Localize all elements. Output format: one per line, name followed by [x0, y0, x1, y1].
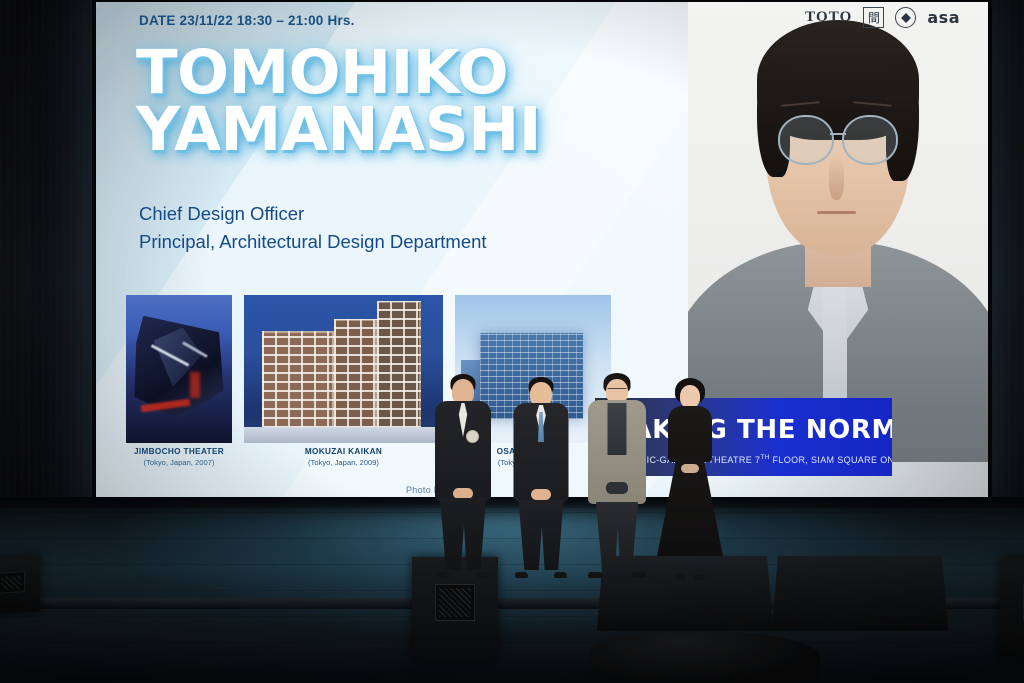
- project-title: JIMBOCHO THEATER: [126, 447, 232, 456]
- stage-photograph: TOTO 間 asa DATE 23/11/22 18:30 – 21:00 H…: [0, 0, 1024, 683]
- person-grey-cardigan: [585, 370, 649, 578]
- project-location: (Tokyo, Japan, 2007): [126, 458, 232, 467]
- ma-kanji-logo: 間: [863, 7, 884, 28]
- project-title: MOKUZAI KAIKAN: [244, 447, 443, 456]
- circle-emblem-logo: [895, 7, 916, 28]
- stage-monitor-center-2: [772, 556, 948, 631]
- project-caption: JIMBOCHO THEATER (Tokyo, Japan, 2007): [126, 447, 232, 467]
- project-location: (Tokyo, Japan, 2009): [244, 458, 443, 467]
- toto-logo: TOTO: [805, 9, 852, 26]
- event-venue-sup: TH: [760, 454, 769, 461]
- speaker-role-line1: Chief Design Officer: [139, 200, 487, 228]
- person-black-dress: [660, 376, 720, 578]
- speaker-role-line2: Principal, Architectural Design Departme…: [139, 228, 487, 256]
- slide-date-line: DATE 23/11/22 18:30 – 21:00 Hrs.: [139, 13, 355, 28]
- speaker-first-name: TOMOHIKO: [136, 44, 541, 101]
- project-thumbnail: MOKUZAI KAIKAN (Tokyo, Japan, 2009): [244, 295, 443, 443]
- jimbocho-theater-image: [126, 295, 232, 443]
- stage-monitor-right: [1000, 557, 1024, 661]
- project-thumbnail: JIMBOCHO THEATER (Tokyo, Japan, 2007): [126, 295, 232, 443]
- stage-monitor-far-left: [0, 555, 40, 615]
- project-caption: MOKUZAI KAIKAN (Tokyo, Japan, 2009): [244, 447, 443, 467]
- sponsor-logo-strip: TOTO 間 asa: [805, 7, 960, 28]
- speaker-portrait: [688, 2, 988, 462]
- person-suit-tie: [510, 372, 572, 578]
- asa-logo: asa: [927, 8, 960, 27]
- mokuzai-kaikan-image: [244, 295, 443, 443]
- speaker-name: TOMOHIKO YAMANASHI: [136, 44, 541, 159]
- stage-cable-bundle: [590, 631, 820, 683]
- speaker-role: Chief Design Officer Principal, Architec…: [139, 200, 487, 256]
- person-suit-badge: [432, 370, 494, 578]
- event-venue-rest: FLOOR, SIAM SQUARE ONE: [770, 455, 892, 465]
- speakers-on-stage: [420, 358, 700, 578]
- speaker-last-name: YAMANASHI: [136, 101, 541, 158]
